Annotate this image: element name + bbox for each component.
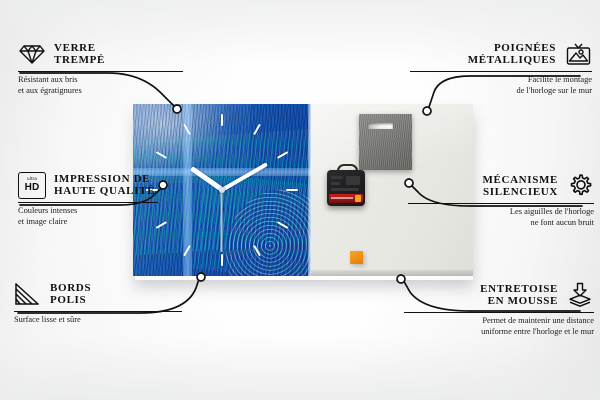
feature-desc-line1: Facilite le montage (402, 75, 592, 85)
feature-rule (18, 202, 158, 203)
feature-title: IMPRESSION DE HAUTE QUALITÉ (54, 173, 155, 198)
feature-mecanisme-silencieux[interactable]: MÉCANISME SILENCIEUX Les aiguilles de l'… (402, 172, 594, 228)
feature-title: MÉCANISME SILENCIEUX (482, 174, 558, 199)
feature-rule (404, 312, 594, 313)
feature-rule (408, 203, 594, 204)
feature-title: BORDS POLIS (50, 282, 91, 307)
diamond-icon (18, 40, 46, 68)
ultra-hd-main-text: HD (25, 183, 40, 193)
clock-tick (277, 221, 288, 229)
feature-desc-line2: et aux égratignures (18, 86, 193, 96)
feature-header: POIGNÉES MÉTALLIQUES (402, 40, 592, 68)
clock-tick (286, 189, 298, 191)
ultra-hd-icon: ultra HD (18, 171, 46, 199)
gear-icon (566, 172, 594, 200)
foam-spacer (350, 251, 363, 264)
mechanism-battery (329, 194, 363, 203)
feature-desc-line1: Couleurs intenses (18, 206, 196, 216)
back-panel-bottom-edge (311, 270, 473, 276)
feature-title: VERRE TREMPÉ (54, 42, 105, 67)
feature-desc-line1: Résistant aux bris (18, 75, 193, 85)
feature-header: MÉCANISME SILENCIEUX (402, 172, 594, 200)
feature-header: VERRE TREMPÉ (18, 40, 193, 68)
feature-header: ENTRETOISE EN MOUSSE (398, 281, 594, 309)
feature-rule (14, 311, 182, 312)
clock-tick (156, 151, 167, 159)
feature-desc-line2: et image claire (18, 217, 196, 227)
feature-rule (410, 71, 592, 72)
feature-title: ENTRETOISE EN MOUSSE (480, 283, 558, 308)
feature-poignees-metalliques[interactable]: POIGNÉES MÉTALLIQUES Facilite le montage… (402, 40, 592, 96)
mechanism-body (327, 170, 365, 206)
clock-tick (183, 124, 191, 135)
mechanism-vent-3 (346, 176, 360, 185)
feature-header: ultra HD IMPRESSION DE HAUTE QUALITÉ (18, 171, 196, 199)
feature-desc-line2: ne font aucun bruit (402, 218, 594, 228)
mechanism-vent-4 (331, 188, 359, 191)
clock-tick (221, 114, 223, 126)
feature-header: BORDS POLIS (14, 280, 189, 308)
metal-hanger-plate (359, 114, 412, 170)
feature-verre-trempe[interactable]: VERRE TREMPÉ Résistant aux bris et aux é… (18, 40, 193, 96)
feature-desc-line1: Les aiguilles de l'horloge (402, 207, 594, 217)
feature-impression-haute-qualite[interactable]: ultra HD IMPRESSION DE HAUTE QUALITÉ Cou… (18, 171, 196, 227)
mechanism-vent-2 (331, 182, 340, 185)
feature-title: POIGNÉES MÉTALLIQUES (468, 42, 556, 67)
feature-desc-line1: Permet de maintenir une distance (398, 316, 594, 326)
battery-positive-terminal (355, 195, 361, 202)
feature-bords-polis[interactable]: BORDS POLIS Surface lisse et sûre (14, 280, 189, 326)
clock-center-cap (219, 187, 225, 193)
feature-desc-line2: de l'horloge sur le mur (402, 86, 592, 96)
clock-tick (221, 254, 223, 266)
picture-hanger-icon (564, 40, 592, 68)
feature-rule (18, 71, 183, 72)
feature-desc-line2: uniforme entre l'horloge et le mur (398, 327, 594, 337)
foam-spacer-icon (566, 281, 594, 309)
infographic-canvas: VERRE TREMPÉ Résistant aux bris et aux é… (0, 0, 600, 400)
clock-tick (183, 245, 191, 256)
clock-mechanism (327, 170, 365, 206)
hanger-keyhole-slot (368, 123, 393, 129)
clock-tick (277, 151, 288, 159)
polished-edge-icon (14, 280, 42, 308)
mechanism-vent-1 (331, 176, 343, 179)
clock-tick (253, 124, 261, 135)
feature-desc-line1: Surface lisse et sûre (14, 315, 189, 325)
feature-entretoise-en-mousse[interactable]: ENTRETOISE EN MOUSSE Permet de maintenir… (398, 281, 594, 337)
battery-label-strip (331, 197, 353, 199)
clock-tick (253, 245, 261, 256)
